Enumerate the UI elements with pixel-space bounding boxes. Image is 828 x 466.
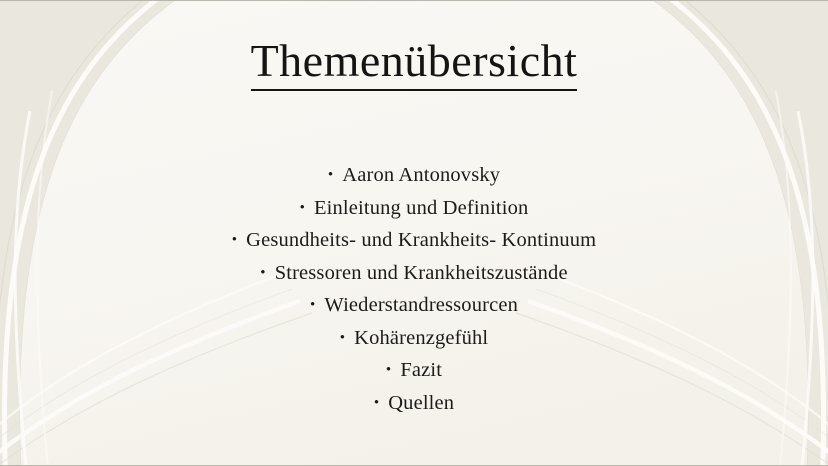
page-title: Themenübersicht (251, 37, 578, 91)
slide-title-container: Themenübersicht (0, 37, 828, 91)
list-item: •Kohärenzgefühl (0, 322, 828, 355)
list-item: •Stressoren und Krankheitszustände (0, 257, 828, 290)
slide-content: Themenübersicht •Aaron Antonovsky •Einle… (0, 1, 828, 465)
list-item-label: Aaron Antonovsky (342, 164, 500, 186)
list-item-label: Quellen (388, 392, 454, 414)
presentation-slide: Themenübersicht •Aaron Antonovsky •Einle… (0, 0, 828, 466)
list-item-label: Stressoren und Krankheitszustände (275, 262, 568, 284)
list-item-label: Gesundheits- und Krankheits- Kontinuum (246, 229, 596, 251)
list-item: •Fazit (0, 354, 828, 387)
list-item: •Quellen (0, 387, 828, 420)
bullet-icon: • (260, 266, 265, 281)
list-item-label: Wiederstandressourcen (324, 294, 518, 316)
list-item: •Gesundheits- und Krankheits- Kontinuum (0, 224, 828, 257)
list-item: •Einleitung und Definition (0, 192, 828, 225)
list-item-label: Fazit (400, 359, 442, 381)
bullet-icon: • (328, 168, 333, 183)
bullet-icon: • (232, 233, 237, 248)
list-item-label: Einleitung und Definition (314, 197, 528, 219)
bullet-icon: • (310, 298, 315, 313)
list-item: •Aaron Antonovsky (0, 159, 828, 192)
bullet-icon: • (374, 396, 379, 411)
topic-overview-list: •Aaron Antonovsky •Einleitung und Defini… (0, 159, 828, 419)
bullet-icon: • (340, 331, 345, 346)
bullet-icon: • (300, 201, 305, 216)
bullet-icon: • (386, 363, 391, 378)
list-item: •Wiederstandressourcen (0, 289, 828, 322)
list-item-label: Kohärenzgefühl (354, 327, 488, 349)
